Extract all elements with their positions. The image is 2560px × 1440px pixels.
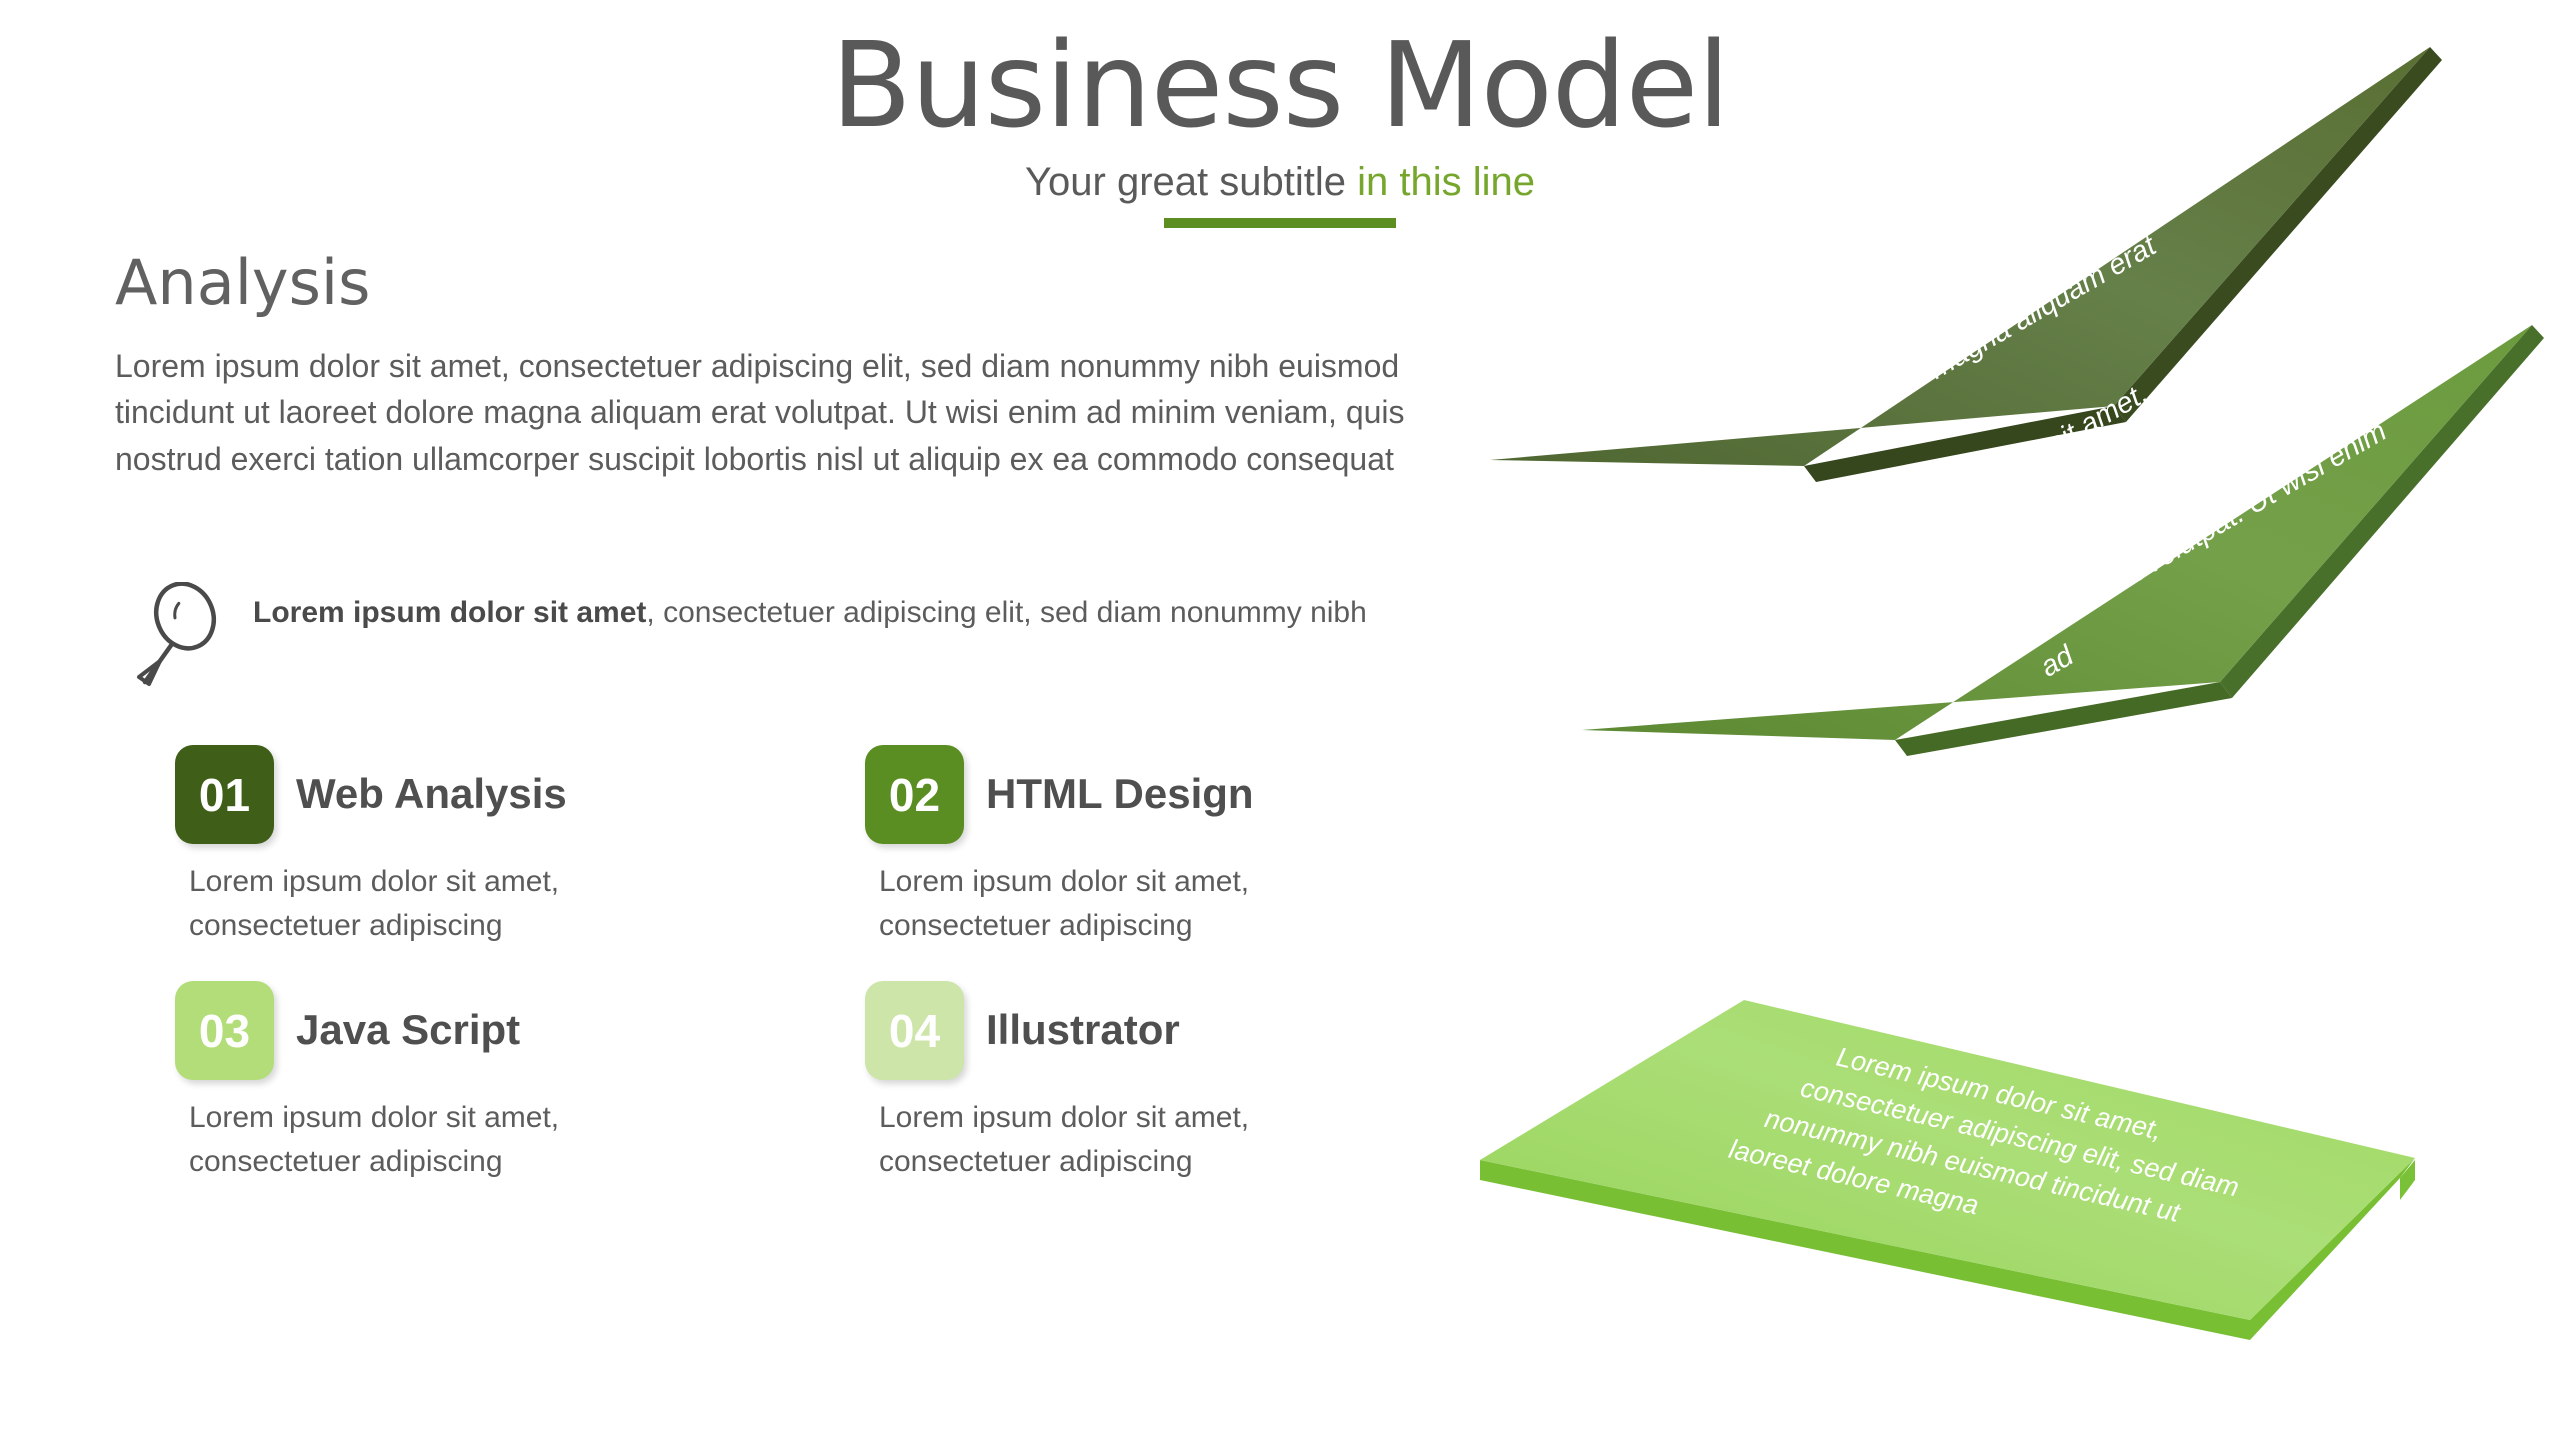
highlight-text: Lorem ipsum dolor sit amet, consectetuer… <box>253 580 1367 635</box>
feature-item-01[interactable]: 01 Web Analysis Lorem ipsum dolor sit am… <box>175 745 865 947</box>
isometric-slab-stack: Lorem ipsum dolor sit amet, consectetuer… <box>1320 0 2560 1440</box>
feature-number-badge-02[interactable]: 02 <box>865 745 964 844</box>
feature-body-04: Lorem ipsum dolor sit amet, consectetuer… <box>879 1096 1349 1183</box>
feature-title-01: Web Analysis <box>296 771 567 817</box>
feature-title-03: Java Script <box>296 1007 520 1053</box>
feature-body-01: Lorem ipsum dolor sit amet, consectetuer… <box>189 860 659 947</box>
section-heading: Analysis <box>115 250 1445 315</box>
feature-title-04: Illustrator <box>986 1007 1180 1053</box>
feature-number-badge-01[interactable]: 01 <box>175 745 274 844</box>
subtitle-plain: Your great subtitle <box>1025 160 1357 204</box>
feature-grid: 01 Web Analysis Lorem ipsum dolor sit am… <box>175 745 1475 1183</box>
highlight-lead: Lorem ipsum dolor sit amet <box>253 596 646 629</box>
slab-bottom: Lorem ipsum dolor sit amet, consectetuer… <box>1480 1000 2415 1340</box>
feature-number-badge-04[interactable]: 04 <box>865 981 964 1080</box>
feature-body-02: Lorem ipsum dolor sit amet, consectetuer… <box>879 860 1349 947</box>
highlight-rest: , consectetuer adipiscing elit, sed diam… <box>646 596 1366 629</box>
section-paragraph: Lorem ipsum dolor sit amet, consectetuer… <box>115 343 1430 482</box>
feature-head: 01 Web Analysis <box>175 745 865 844</box>
magnifier-icon <box>135 582 227 687</box>
feature-item-03[interactable]: 03 Java Script Lorem ipsum dolor sit ame… <box>175 981 865 1183</box>
feature-head: 03 Java Script <box>175 981 865 1080</box>
analysis-section: Analysis Lorem ipsum dolor sit amet, con… <box>115 250 1445 482</box>
feature-number-badge-03[interactable]: 03 <box>175 981 274 1080</box>
highlight-row: Lorem ipsum dolor sit amet, consectetuer… <box>135 580 1395 687</box>
feature-body-03: Lorem ipsum dolor sit amet, consectetuer… <box>189 1096 659 1183</box>
feature-title-02: HTML Design <box>986 771 1254 817</box>
